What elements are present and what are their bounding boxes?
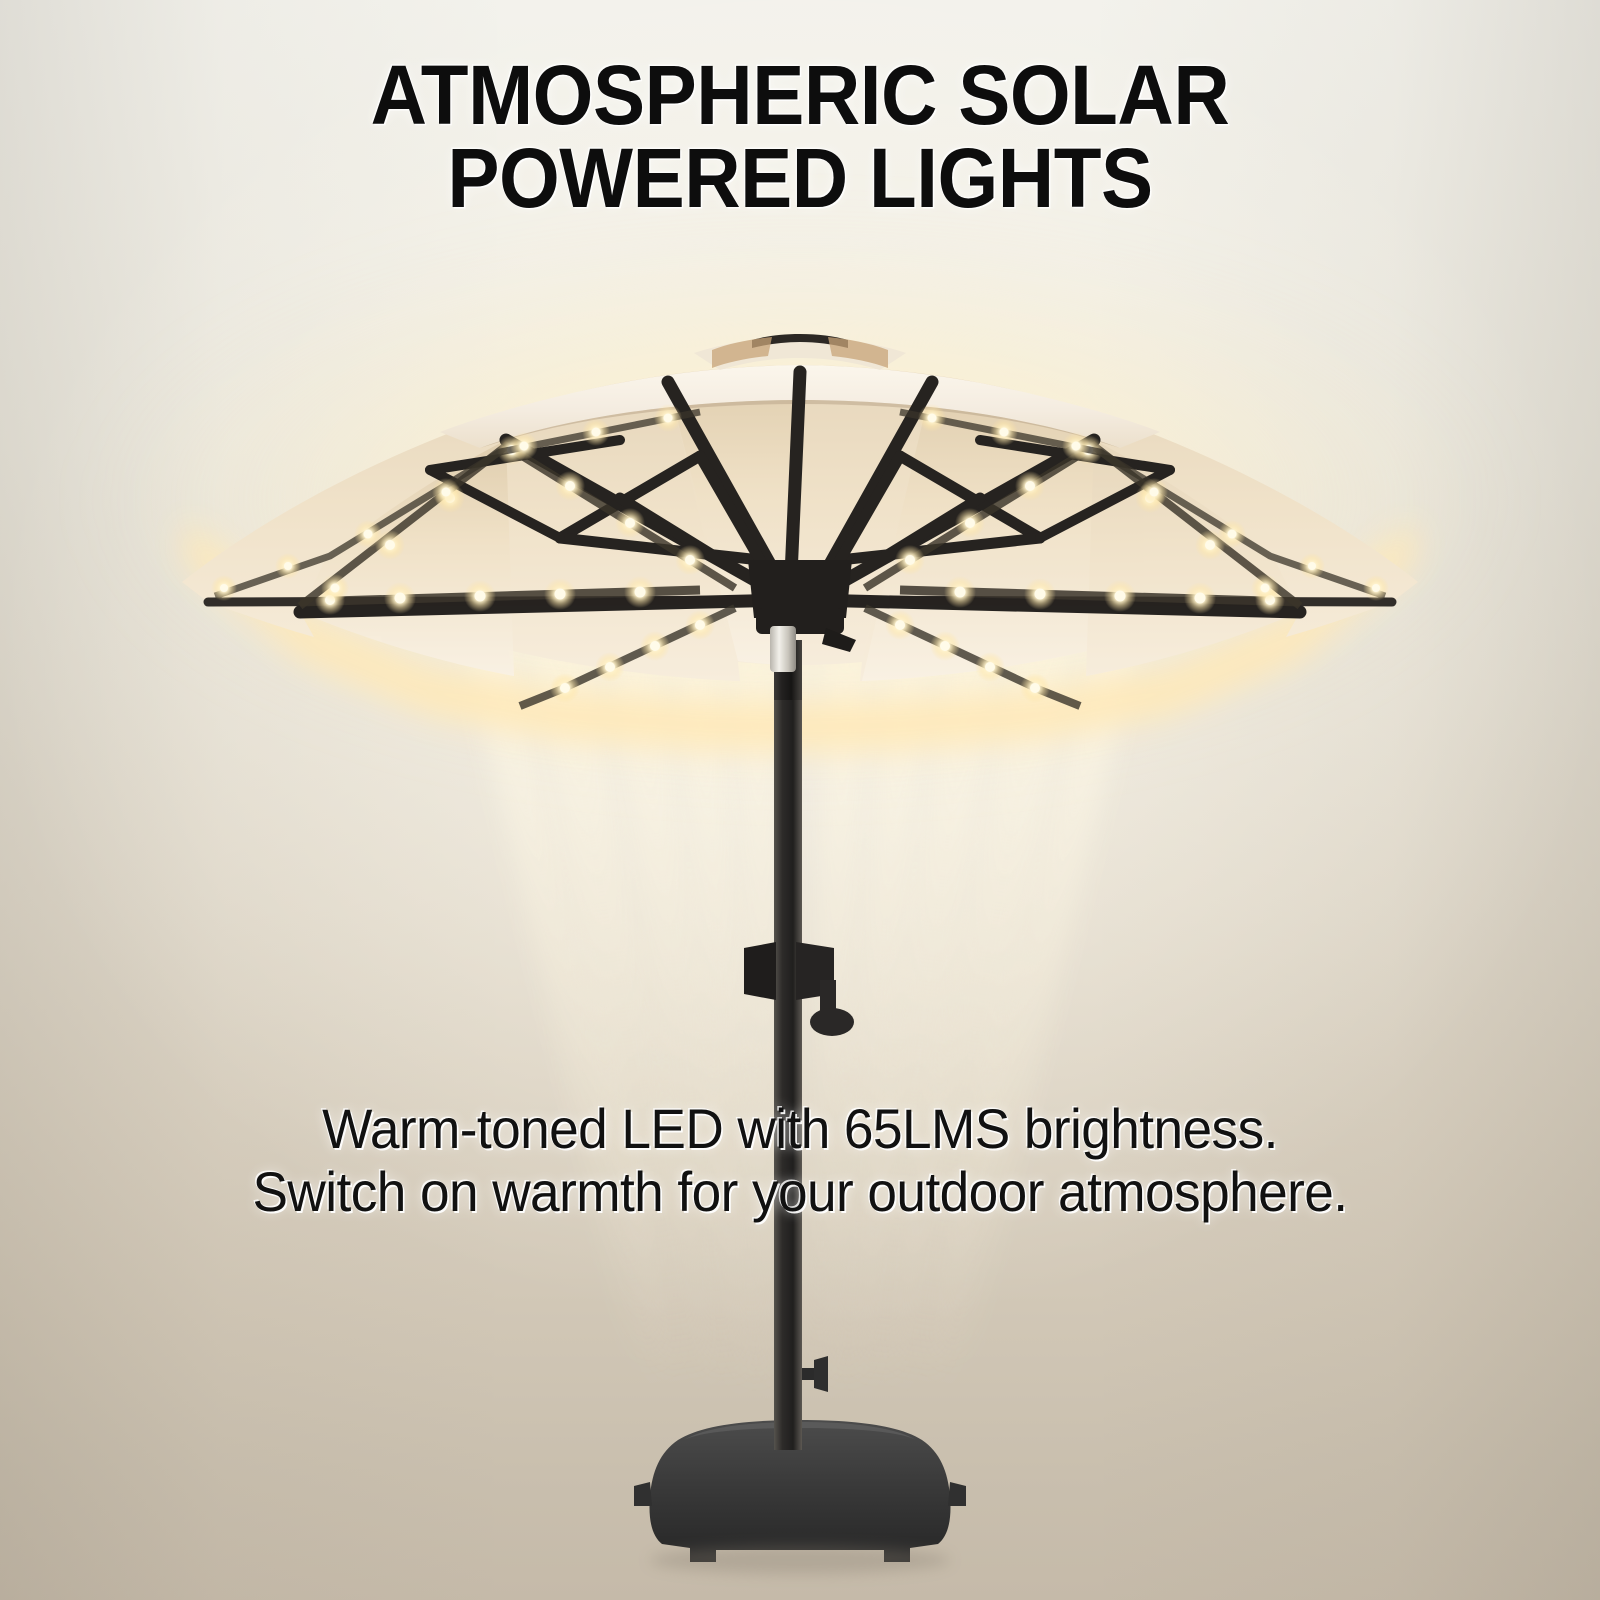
product-hero-image: ATMOSPHERIC SOLAR POWERED LIGHTS Warm-to… bbox=[0, 0, 1600, 1600]
product-description-caption: Warm-toned LED with 65LMS brightness. Sw… bbox=[40, 1098, 1560, 1223]
page-title: ATMOSPHERIC SOLAR POWERED LIGHTS bbox=[56, 54, 1544, 220]
background-vignette bbox=[0, 0, 1600, 1600]
